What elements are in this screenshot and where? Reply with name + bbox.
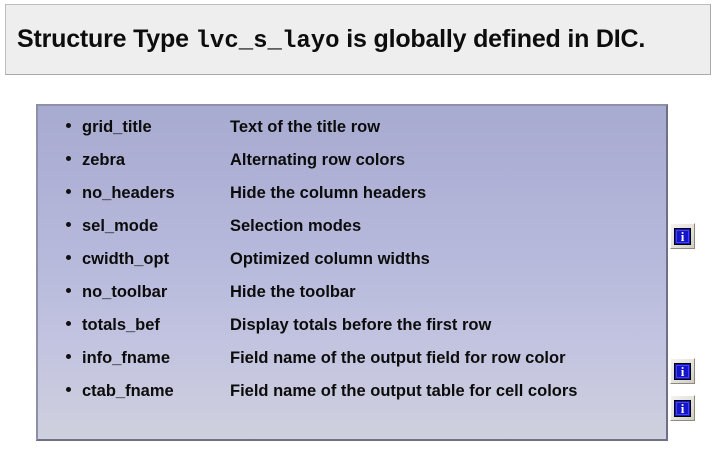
info-icon: i <box>674 363 691 380</box>
info-button[interactable]: i <box>670 395 695 421</box>
option-description: Alternating row colors <box>230 151 405 170</box>
bullet-icon <box>66 387 71 392</box>
option-key: grid_title <box>82 118 230 137</box>
header-banner: Structure Type lvc_s_layo is globally de… <box>5 4 711 75</box>
option-key: sel_mode <box>82 217 230 236</box>
page-title: Structure Type lvc_s_layo is globally de… <box>6 25 645 55</box>
option-key: no_headers <box>82 184 230 203</box>
options-panel: grid_titleText of the title rowzebraAlte… <box>36 104 668 441</box>
option-description: Text of the title row <box>230 118 380 137</box>
bullet-icon <box>66 255 71 260</box>
option-description: Hide the toolbar <box>230 283 356 302</box>
option-description: Selection modes <box>230 217 361 236</box>
list-item: grid_titleText of the title row <box>38 118 666 151</box>
option-description: Hide the column headers <box>230 184 426 203</box>
option-key: ctab_fname <box>82 382 230 401</box>
list-item: ctab_fnameField name of the output table… <box>38 382 666 415</box>
bullet-icon <box>66 222 71 227</box>
list-item: totals_befDisplay totals before the firs… <box>38 316 666 349</box>
bullet-icon <box>66 354 71 359</box>
list-item: zebraAlternating row colors <box>38 151 666 184</box>
option-description: Optimized column widths <box>230 250 430 269</box>
page-title-prefix: Structure Type <box>17 25 196 53</box>
option-description: Display totals before the first row <box>230 316 491 335</box>
info-button[interactable]: i <box>670 223 695 249</box>
info-icon-glyph: i <box>681 230 685 243</box>
option-key: totals_bef <box>82 316 230 335</box>
bullet-icon <box>66 123 71 128</box>
option-key: no_toolbar <box>82 283 230 302</box>
bullet-icon <box>66 288 71 293</box>
list-item: no_headersHide the column headers <box>38 184 666 217</box>
options-list: grid_titleText of the title rowzebraAlte… <box>38 118 666 415</box>
bullet-icon <box>66 321 71 326</box>
list-item: no_toolbarHide the toolbar <box>38 283 666 316</box>
list-item: cwidth_optOptimized column widths <box>38 250 666 283</box>
structure-type-name: lvc_s_layo <box>196 28 340 55</box>
info-icon-glyph: i <box>681 402 685 415</box>
page-title-suffix: is globally defined in DIC. <box>340 25 646 53</box>
option-description: Field name of the output table for cell … <box>230 382 577 401</box>
option-description: Field name of the output field for row c… <box>230 349 566 368</box>
option-key: cwidth_opt <box>82 250 230 269</box>
list-item: info_fnameField name of the output field… <box>38 349 666 382</box>
info-icon-glyph: i <box>681 365 685 378</box>
bullet-icon <box>66 189 71 194</box>
option-key: info_fname <box>82 349 230 368</box>
bullet-icon <box>66 156 71 161</box>
option-key: zebra <box>82 151 230 170</box>
info-icon: i <box>674 400 691 417</box>
list-item: sel_modeSelection modes <box>38 217 666 250</box>
info-button[interactable]: i <box>670 358 695 384</box>
info-icon: i <box>674 228 691 245</box>
